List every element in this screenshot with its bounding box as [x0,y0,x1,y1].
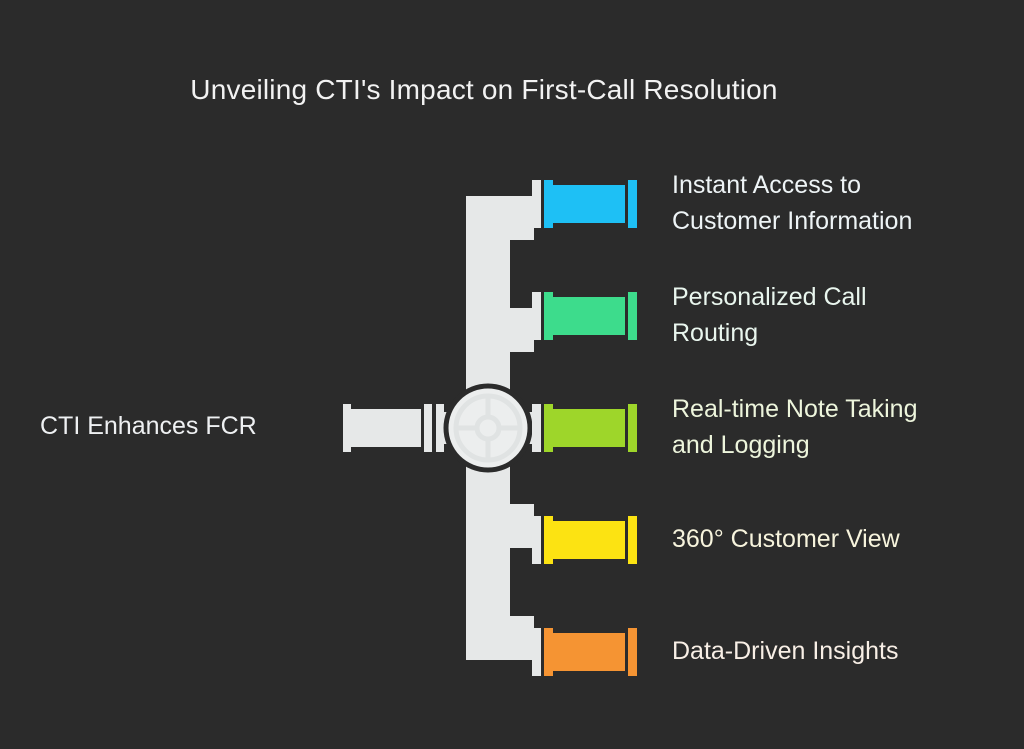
branch-body [553,297,625,335]
branch-pipes-group [532,180,637,676]
branch-joint-flange [532,628,541,676]
branch-label-line: 360° Customer View [672,521,1002,558]
branch-flange-far [628,404,637,452]
branch-body [553,633,625,671]
branch-label-line: Real-time Note Taking [672,391,1002,428]
branch-pipe-4[interactable] [532,516,637,564]
branch-flange-far [628,628,637,676]
branch-body [553,185,625,223]
valve-hub [477,417,499,439]
branch-flange-near [544,628,553,676]
branch-joint-flange [532,404,541,452]
branch-pipe-3[interactable] [532,404,637,452]
branch-joint-flange [532,292,541,340]
inlet-flange-mid-b [436,404,444,452]
branch-flange-far [628,516,637,564]
branch-body [553,521,625,559]
branch-label-3: Real-time Note Takingand Logging [672,391,1002,464]
branch-label-4: 360° Customer View [672,521,1002,558]
branch-flange-far [628,180,637,228]
branch-flange-far [628,292,637,340]
branch-label-line: Routing [672,315,1002,352]
branch-flange-near [544,516,553,564]
branch-label-line: Personalized Call [672,279,1002,316]
branch-label-line: and Logging [672,427,1002,464]
infographic-canvas: Unveiling CTI's Impact on First-Call Res… [0,0,1024,749]
branch-label-line: Data-Driven Insights [672,633,1002,670]
branch-flange-near [544,404,553,452]
branch-label-line: Customer Information [672,203,1002,240]
branch-pipe-2[interactable] [532,292,637,340]
branch-label-5: Data-Driven Insights [672,633,1002,670]
inlet-flange-mid-a [424,404,432,452]
branch-label-1: Instant Access toCustomer Information [672,167,1002,240]
branch-flange-near [544,292,553,340]
branch-pipe-1[interactable] [532,180,637,228]
branch-joint-flange [532,516,541,564]
branch-pipe-5[interactable] [532,628,637,676]
branch-label-line: Instant Access to [672,167,1002,204]
branch-joint-flange [532,180,541,228]
inlet-flange-left [343,404,351,452]
branch-label-2: Personalized CallRouting [672,279,1002,352]
inlet-body [351,409,421,447]
branch-flange-near [544,180,553,228]
branch-body [553,409,625,447]
valve-assembly [446,386,534,470]
